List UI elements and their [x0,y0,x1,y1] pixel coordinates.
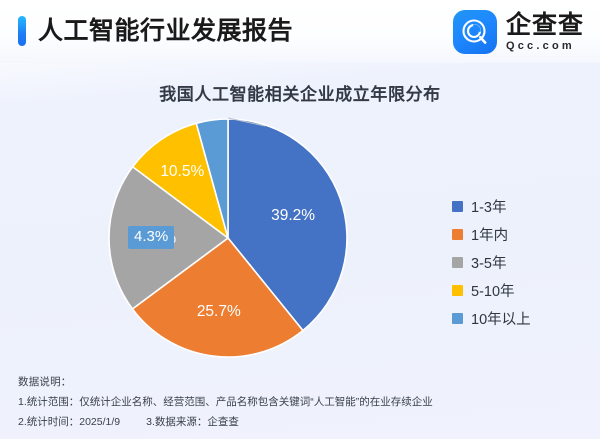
brand-logo: 企查查 Qcc.com [453,10,584,54]
page-header: 人工智能行业发展报告 企查查 Qcc.com [0,0,600,63]
chart-title: 我国人工智能相关企业成立年限分布 [0,80,600,105]
report-page: 人工智能行业发展报告 企查查 Qcc.com 我国人工智能相关企业成立年限分布 … [0,0,600,439]
brand-domain: Qcc.com [506,41,584,52]
pie-slice-label: 10.5% [160,163,204,180]
footer-notes: 数据说明： 1.统计范围：仅统计企业名称、经营范围、产品名称包含关键词“人工智能… [18,372,588,432]
legend-item-label: 3-5年 [471,252,506,273]
legend-item-label: 1年内 [471,224,508,245]
header-accent-bar [18,16,26,46]
legend-item[interactable]: 3-5年 [452,255,531,270]
pie-slice-label: 25.7% [197,303,241,320]
pie-callout-label: 4.3% [128,226,174,249]
footer-scope-note: 1.统计范围：仅统计企业名称、经营范围、产品名称包含关键词“人工智能”的在业存续… [18,392,588,412]
legend-swatch-icon [452,285,463,296]
footer-heading: 数据说明： [18,372,588,392]
chart-legend: 1-3年1年内3-5年5-10年10年以上 [452,199,531,326]
legend-swatch-icon [452,201,463,212]
page-title: 人工智能行业发展报告 [38,13,293,49]
legend-item-label: 10年以上 [471,308,531,329]
legend-item-label: 1-3年 [471,196,506,217]
legend-item[interactable]: 1-3年 [452,199,531,214]
footer-time-source-note: 2.统计时间：2025/1/93.数据来源：企查查 [18,412,588,432]
legend-swatch-icon [452,257,463,268]
brand-text: 企查查 Qcc.com [506,13,584,52]
brand-name: 企查查 [506,13,584,38]
footer-stat-time: 2.统计时间：2025/1/9 [18,416,120,428]
legend-swatch-icon [452,229,463,240]
footer-data-source: 3.数据来源：企查查 [146,416,239,428]
qcc-logo-icon [453,10,497,54]
legend-swatch-icon [452,313,463,324]
legend-item[interactable]: 10年以上 [452,311,531,326]
legend-item-label: 5-10年 [471,280,515,301]
legend-item[interactable]: 5-10年 [452,283,531,298]
pie-slice-label: 39.2% [271,207,315,224]
legend-item[interactable]: 1年内 [452,227,531,242]
